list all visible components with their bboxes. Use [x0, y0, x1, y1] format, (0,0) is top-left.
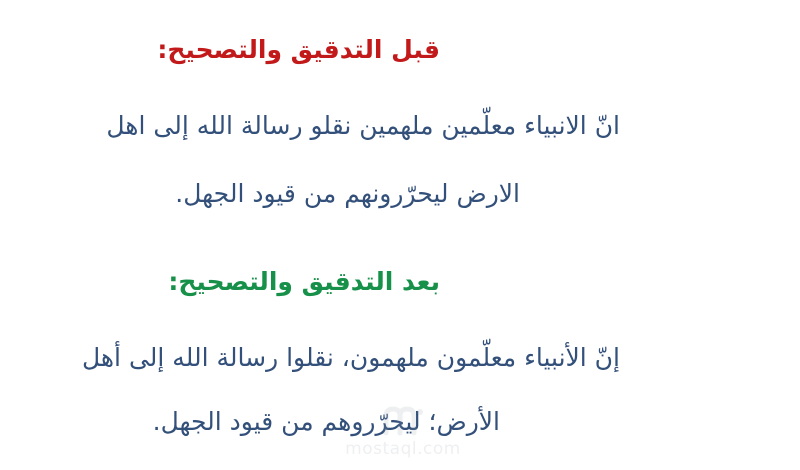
after-paragraph-line-2: الأرض؛ ليحرّروهم من قيود الجهل.	[153, 404, 500, 439]
before-paragraph-line-1: انّ الانبياء معلّمين ملهمين نقلو رسالة ا…	[106, 108, 620, 143]
after-paragraph-line-1: إنّ الأنبياء معلّمون ملهمون، نقلوا رسالة…	[82, 340, 620, 375]
heading-after-proofreading: بعد التدقيق والتصحيح:	[168, 265, 440, 299]
before-paragraph-line-2: الارض ليحرّرونهم من قيود الجهل.	[175, 176, 520, 211]
document-page: قبل التدقيق والتصحيح: انّ الانبياء معلّم…	[0, 0, 800, 470]
watermark-text: mostaql.com	[333, 439, 473, 459]
heading-before-proofreading: قبل التدقيق والتصحيح:	[157, 33, 440, 67]
